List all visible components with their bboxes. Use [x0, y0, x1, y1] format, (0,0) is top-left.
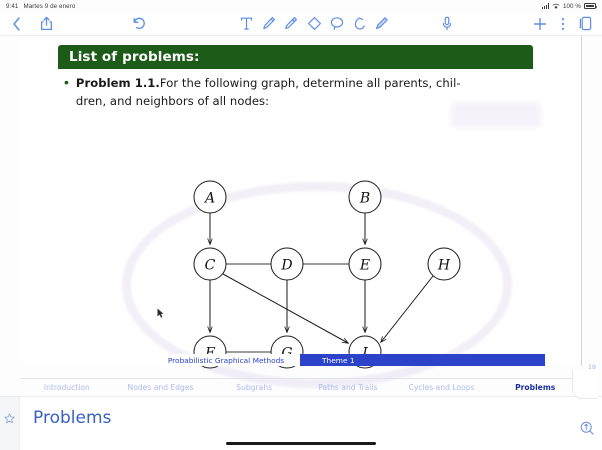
microphone-icon[interactable]	[442, 16, 452, 31]
app-root: 9:41 Martes 9 de enero 100 %	[0, 0, 602, 450]
slide-footer: Probabilistic Graphical Methods Theme 1	[20, 354, 582, 366]
undo-icon[interactable]	[132, 17, 146, 30]
lasso-tool-icon[interactable]	[330, 16, 344, 31]
slide-footer-spacer	[20, 354, 152, 366]
section-nav-bar: Introduction Nodes and Edges Subgrahs Pa…	[20, 378, 582, 396]
outline-strip: Problems	[0, 396, 602, 450]
graph-node-E: E	[349, 248, 381, 280]
status-bar-right: 100 %	[542, 3, 596, 10]
document-corner-fold	[572, 371, 598, 399]
svg-text:D: D	[280, 258, 292, 274]
nav-item-introduction[interactable]: Introduction	[20, 383, 114, 392]
drawing-tools-group	[240, 16, 389, 31]
eraser-tool-icon[interactable]	[307, 16, 322, 31]
pointer-cursor-icon	[157, 308, 164, 318]
plus-icon[interactable]	[533, 17, 547, 31]
home-indicator[interactable]	[226, 442, 376, 445]
edge-C-I	[223, 274, 348, 343]
slide-banner-title: List of problems:	[58, 49, 200, 65]
svg-text:A: A	[203, 191, 215, 207]
edge-H-I	[381, 276, 433, 342]
status-bar-left: 9:41 Martes 9 de enero	[6, 3, 75, 10]
zoom-fit-icon[interactable]	[580, 421, 594, 435]
nav-item-cycles-and-loops[interactable]: Cycles and Loops	[395, 383, 489, 392]
star-outline-icon[interactable]	[4, 413, 15, 424]
slide-banner: List of problems:	[58, 45, 533, 68]
status-time: 9:41	[6, 3, 18, 10]
nav-item-paths-and-trails[interactable]: Paths and Trails	[301, 383, 395, 392]
page-title: Problems	[33, 408, 111, 428]
cellular-signal-icon	[542, 3, 549, 9]
graph-nodes: A B C D E	[194, 181, 460, 368]
ruler-tool-icon[interactable]	[353, 16, 366, 31]
status-bar: 9:41 Martes 9 de enero 100 %	[0, 0, 602, 12]
svg-text:B: B	[359, 191, 370, 207]
toolbar-left-group	[0, 16, 53, 31]
app-toolbar	[0, 12, 602, 36]
graph-node-B: B	[349, 181, 381, 213]
problem-statement: Problem 1.1.For the following graph, det…	[76, 74, 461, 110]
battery-percent: 100 %	[563, 3, 581, 10]
graph-directed-edges	[210, 213, 433, 343]
graph-node-H: H	[428, 248, 460, 280]
bullet-marker: •	[64, 74, 69, 110]
pen-tool-icon[interactable]	[262, 16, 276, 31]
wifi-icon	[552, 3, 560, 10]
nav-item-subgrahs[interactable]: Subgrahs	[207, 383, 301, 392]
slide-footer-theme: Theme 1	[300, 354, 545, 366]
more-options-icon[interactable]	[561, 17, 565, 31]
page-thumbnails-icon[interactable]	[579, 16, 592, 31]
problem-label: Problem 1.1.	[76, 76, 160, 90]
chevron-left-icon[interactable]	[12, 17, 22, 31]
nav-item-problems[interactable]: Problems	[488, 383, 582, 392]
graph-node-A: A	[194, 181, 226, 213]
problem-line-1: For the following graph, determine all p…	[160, 76, 461, 90]
problem-line-2: dren, and neighbors of all nodes:	[76, 94, 269, 108]
slide-canvas[interactable]: List of problems: • Problem 1.1.For the …	[20, 36, 582, 366]
banner-underline	[58, 68, 533, 69]
color-picker-icon[interactable]	[374, 16, 389, 31]
graph-node-C: C	[194, 248, 226, 280]
svg-text:E: E	[359, 258, 370, 274]
svg-text:H: H	[437, 258, 451, 274]
toolbar-right-group	[533, 16, 592, 31]
graph-node-D: D	[271, 248, 303, 280]
problem-bullet: • Problem 1.1.For the following graph, d…	[64, 74, 542, 110]
highlighter-tool-icon[interactable]	[284, 16, 298, 31]
status-date: Martes 9 de enero	[23, 3, 75, 10]
text-tool-icon[interactable]	[240, 16, 253, 31]
nav-item-nodes-and-edges[interactable]: Nodes and Edges	[114, 383, 208, 392]
graph-diagram: A B C D E	[180, 166, 480, 384]
slide-edge-shadow	[581, 36, 582, 366]
slide-footer-course: Probabilistic Graphical Methods	[152, 354, 300, 366]
svg-text:C: C	[205, 258, 216, 274]
battery-icon	[584, 3, 596, 9]
outline-sidebar	[0, 397, 20, 450]
share-icon[interactable]	[40, 16, 53, 31]
